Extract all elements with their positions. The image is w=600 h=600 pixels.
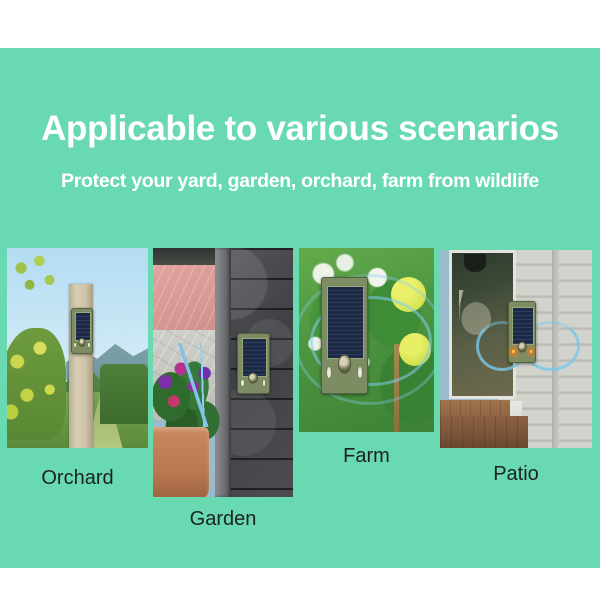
led-right-icon <box>530 349 532 354</box>
led-left-icon <box>241 380 244 385</box>
repeller-device <box>508 301 536 362</box>
led-left-icon <box>512 349 514 354</box>
wooden-deck <box>440 416 528 448</box>
repeller-device <box>71 308 93 354</box>
porch-lamp <box>464 254 485 272</box>
repeller-device <box>237 333 270 395</box>
led-right-icon <box>358 367 362 377</box>
led-right-icon <box>263 380 266 385</box>
orchard-photo <box>7 248 148 448</box>
sensor-lens-icon <box>518 342 527 353</box>
fruit-bush <box>7 328 66 440</box>
sensor-lens-icon <box>78 338 85 347</box>
led-right-icon <box>88 343 90 347</box>
hedge <box>100 364 148 424</box>
scenario-image-orchard <box>7 248 148 448</box>
patio-photo <box>440 250 592 448</box>
led-left-icon <box>327 367 331 377</box>
solar-panel-icon <box>242 338 267 377</box>
scenario-image-patio <box>440 250 592 448</box>
overhanging-leaves <box>7 248 61 304</box>
garden-stakes <box>164 343 226 428</box>
repeller-device <box>321 277 369 393</box>
scenario-caption-orchard: Orchard <box>7 466 148 490</box>
promo-banner: Applicable to various scenarios Protect … <box>0 0 600 600</box>
farm-photo <box>299 248 434 432</box>
terracotta-pot <box>153 427 209 497</box>
page-title: Applicable to various scenarios <box>0 108 600 150</box>
scenario-caption-patio: Patio <box>440 462 592 486</box>
scenario-caption-farm: Farm <box>299 444 434 468</box>
sensor-lens-icon <box>248 373 258 384</box>
scenario-caption-garden: Garden <box>153 507 293 531</box>
page-subtitle: Protect your yard, garden, orchard, farm… <box>0 168 600 194</box>
scenario-image-garden <box>153 248 293 497</box>
garden-photo <box>153 248 293 497</box>
led-left-icon <box>74 343 76 347</box>
solar-panel-icon <box>512 307 534 346</box>
sensor-lens-icon <box>338 354 352 373</box>
shadow-strip <box>153 248 217 265</box>
scenario-image-farm <box>299 248 434 432</box>
solar-panel-icon <box>327 286 364 359</box>
